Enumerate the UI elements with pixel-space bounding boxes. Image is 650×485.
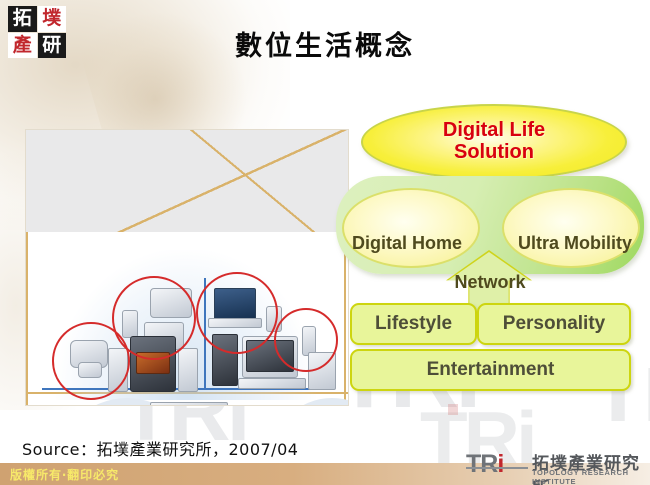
highlight-circle-icon: [196, 272, 278, 354]
pillar-label: Ultra Mobility: [518, 233, 632, 266]
tri-underline: [466, 467, 528, 469]
highlight-circle-icon: [274, 308, 338, 372]
dvd-player-device: [150, 402, 228, 406]
copyright-text: 版權所有‧翻印必究: [10, 466, 119, 483]
driver-label: Lifestyle: [375, 313, 452, 335]
tri-letter-r: R: [480, 450, 497, 478]
source-note: Source：拓墣產業研究所，2007/04: [22, 436, 298, 460]
driver-box-personality: Personality: [477, 303, 631, 345]
driver-box-entertainment: Entertainment: [350, 349, 631, 391]
tri-wordmark: TRi: [466, 450, 503, 479]
page-title: 數位生活概念: [0, 24, 650, 63]
solution-label: Digital Life Solution: [443, 120, 545, 163]
tri-letter-i: i: [497, 450, 503, 478]
keyboard-device: [238, 378, 306, 389]
network-label: Network: [336, 272, 644, 293]
digital-life-solution-diagram: Digital Life Solution Digital Home Ultra…: [334, 100, 646, 400]
tri-letter-t: T: [466, 450, 480, 478]
digital-home-illustration: [25, 129, 349, 406]
highlight-circle-icon: [112, 276, 196, 360]
speaker-right-device: [178, 348, 198, 392]
solution-label-line1: Digital Life: [443, 120, 545, 142]
driver-label: Personality: [503, 313, 605, 335]
driver-label: Entertainment: [427, 359, 555, 381]
house-wall-left: [26, 232, 28, 405]
driver-box-lifestyle: Lifestyle: [350, 303, 477, 345]
tri-brand-logo: TRi 拓墣產業研究所 TOPOLOGY RESEARCH INSTITUTE: [466, 452, 642, 480]
solution-label-line2: Solution: [443, 142, 545, 164]
pillar-ultra-mobility: Ultra Mobility: [502, 188, 640, 268]
watermark-accent-dot: [448, 404, 458, 415]
pillar-label: Digital Home: [352, 233, 462, 266]
slide-canvas: TRi TRi TRi TRi 拓 墣 產 研 數位生活概念: [0, 0, 650, 485]
tri-english-name: TOPOLOGY RESEARCH INSTITUTE: [532, 468, 642, 485]
pillar-digital-home: Digital Home: [342, 188, 480, 268]
solution-ellipse: Digital Life Solution: [361, 104, 627, 180]
